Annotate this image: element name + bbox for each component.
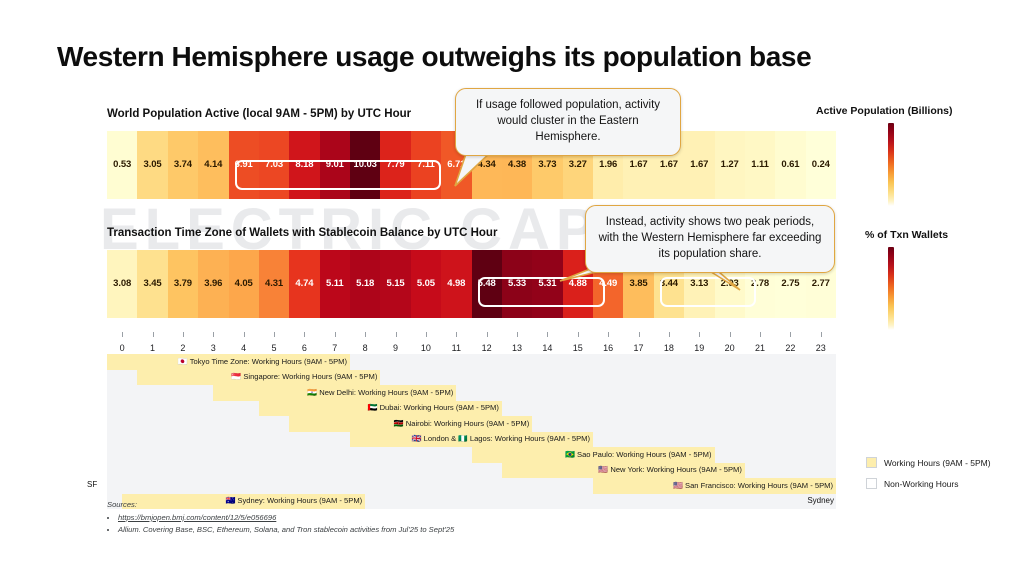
callout-wallets: Instead, activity shows two peak periods… xyxy=(585,205,835,273)
slide-canvas: ELECTRIC CAPITAL Western Hemisphere usag… xyxy=(0,0,1032,581)
callout-population: If usage followed population, activity w… xyxy=(455,88,681,156)
